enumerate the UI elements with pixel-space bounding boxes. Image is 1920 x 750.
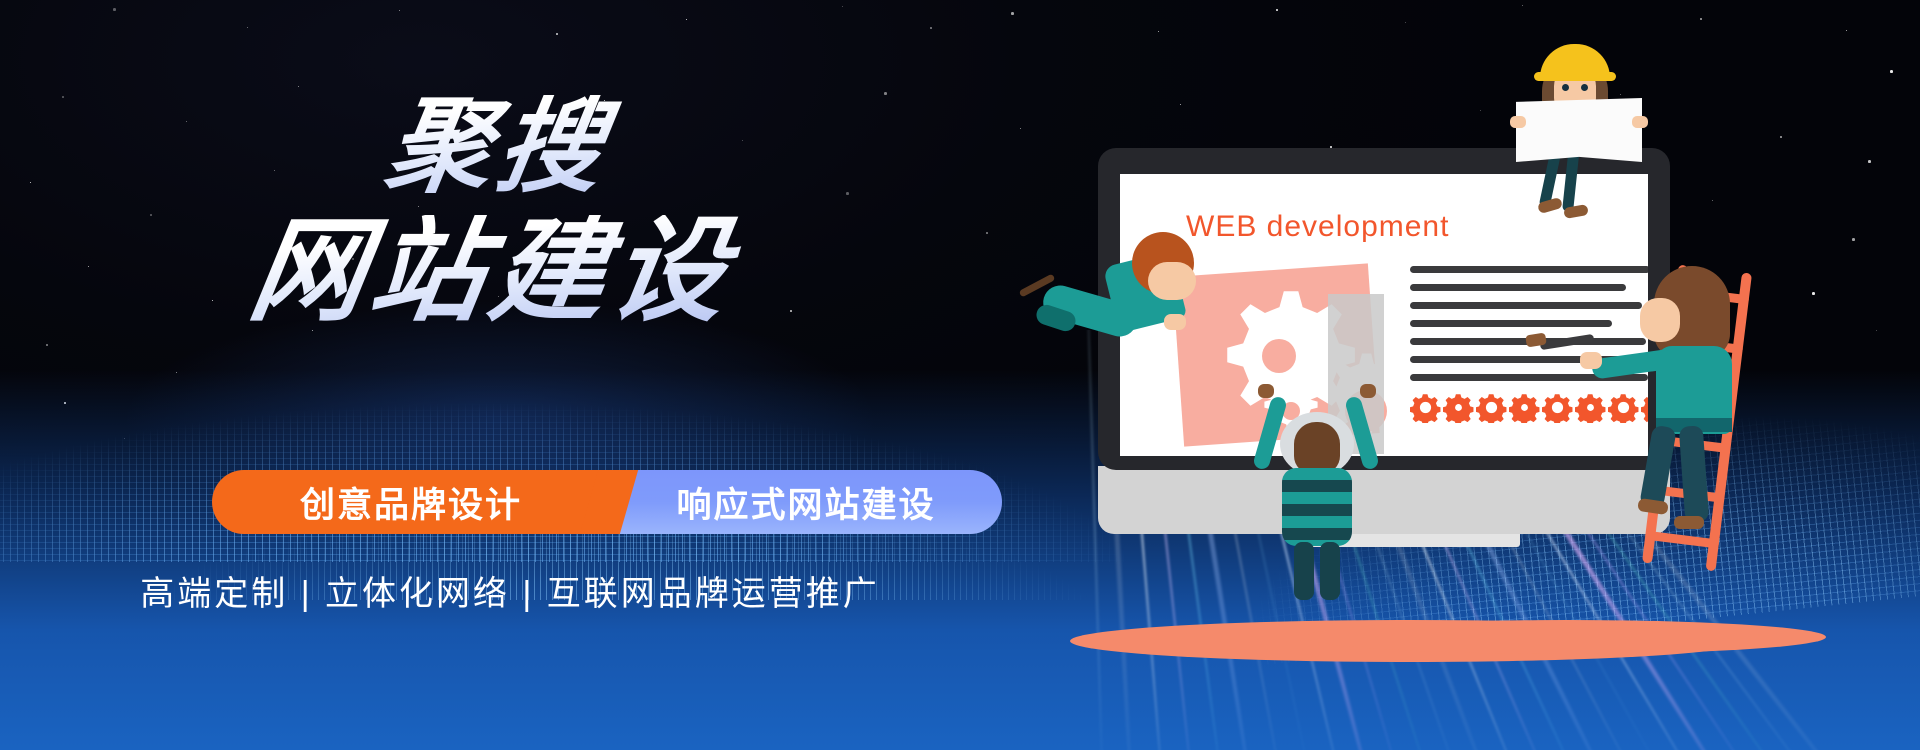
pill-right-label: 响应式网站建设 [676, 477, 935, 528]
page-title-line-2: 网站建设 [0, 215, 909, 329]
blueprint-sheet [1516, 98, 1642, 162]
orange-gear-icon [1542, 392, 1573, 423]
illustration: WEB development [1060, 0, 1920, 750]
ladder-painter [1600, 262, 1760, 522]
page-title-line-1: 聚搜 [0, 95, 908, 199]
pill-left-label: 创意品牌设计 [300, 477, 522, 528]
tagline: 高端定制 | 立体化网络 | 互联网品牌运营推广 [0, 566, 1020, 615]
painter-face [1640, 298, 1680, 342]
marketing-banner: 聚搜 网站建设 创意品牌设计 响应式网站建设 高端定制 | 立体化网络 | 互联… [0, 0, 1920, 750]
child-lifting-card [1256, 392, 1386, 592]
headline-block: 聚搜 网站建设 [0, 95, 900, 329]
child-head [1294, 422, 1340, 474]
service-pill[interactable]: 创意品牌设计 响应式网站建设 [212, 470, 1002, 534]
hard-hat-worker [1490, 20, 1660, 180]
child-striped-shirt [1282, 468, 1352, 546]
pill-segment-brand-design[interactable]: 创意品牌设计 [212, 470, 610, 534]
orange-gear-icon [1509, 392, 1540, 423]
coral-ground-ellipse-secondary [1306, 620, 1826, 654]
orange-gear-icon [1410, 392, 1441, 423]
gear-worker [1036, 210, 1236, 390]
pill-segment-responsive-site[interactable]: 响应式网站建设 [610, 470, 1002, 534]
orange-gear-icon [1476, 392, 1507, 423]
orange-gear-icon [1443, 392, 1474, 423]
